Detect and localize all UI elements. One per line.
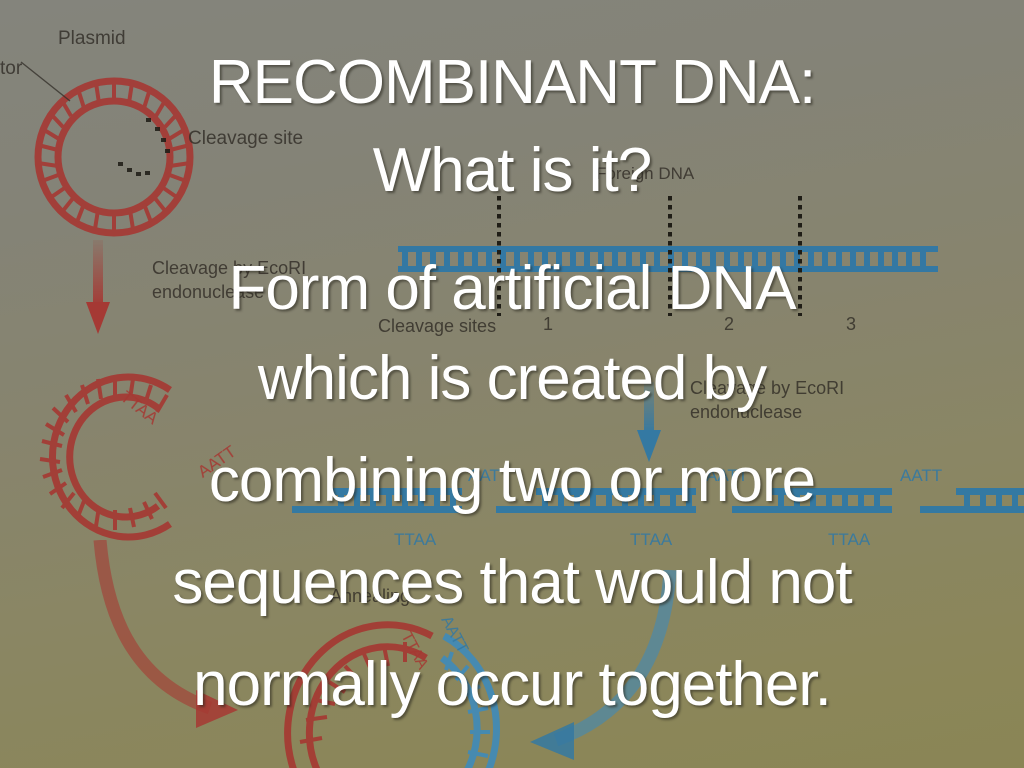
slide-title-line-2: What is it? [0,140,1024,202]
slide-title-line-1: RECOMBINANT DNA: [0,52,1024,114]
slide-body-line-1: Form of artificial DNA [0,258,1024,320]
slide-body-line-2: which is created by [0,348,1024,410]
slide-text-layer: RECOMBINANT DNA: What is it? Form of art… [0,0,1024,768]
presentation-slide: PlasmidtorCleavage siteForeign DNACleava… [0,0,1024,768]
slide-body-line-3: combining two or more [0,450,1024,512]
slide-body-line-5: normally occur together. [0,654,1024,716]
slide-body-line-4: sequences that would not [0,552,1024,614]
